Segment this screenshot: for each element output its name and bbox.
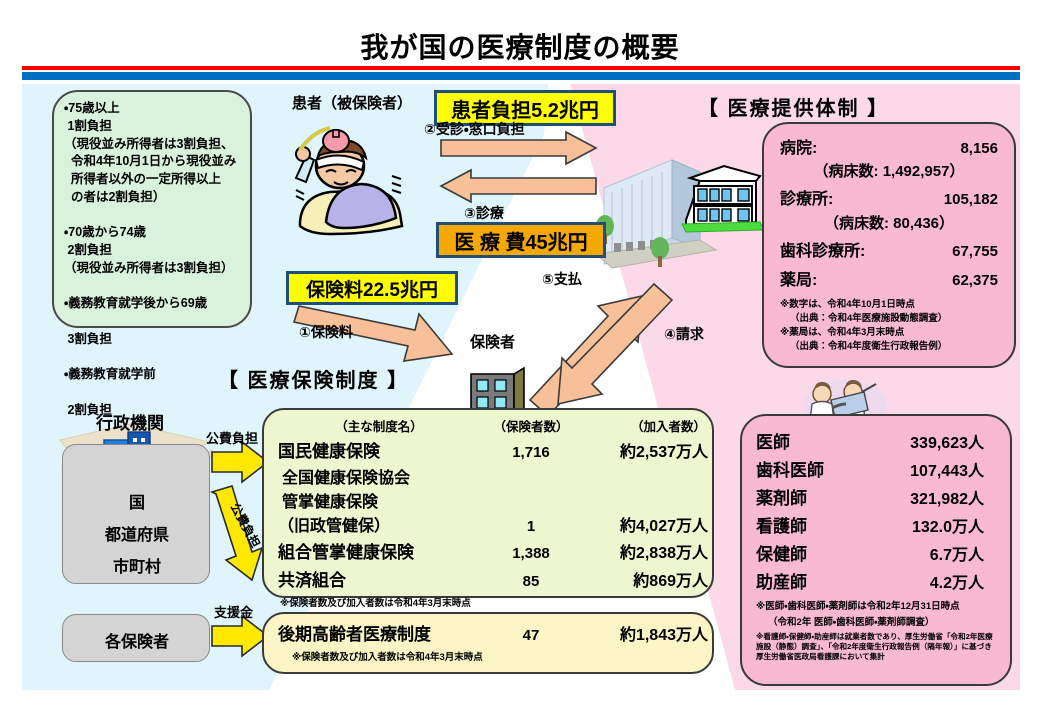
scheme-insurers: 1,388 [476,545,586,562]
scheme-members: 約869万人 [586,567,712,591]
facility-row: 歯科診療所: 67,755 [780,237,998,261]
flow-label-step5: ⑤支払 [542,269,582,289]
insurer-label: 保険者 [470,331,515,352]
personnel-name: 助産師 [756,568,852,593]
government-heading: 行政機関 [96,409,164,434]
provider-note: ※薬局は、令和4年3月末時点 [780,324,998,338]
scheme-members: 約4,027万人 [586,512,712,536]
government-entity-national: 国 [63,489,211,513]
table-row: 共済組合 85 約869万人 [264,566,712,591]
personnel-note: （令和2年 医師・歯科医師・薬剤師調査） [756,614,998,628]
table-row: （旧政管健保） 1 約4,027万人 [264,512,712,536]
clinic-beds: （病床数: 80,436） [780,212,998,233]
insurance-table-box: （主な制度名） （保険者数） （加入者数） 国民健康保険 1,716 約2,53… [262,408,714,598]
facility-value: 105,182 [944,191,998,208]
page-title: 我が国の医療制度の概要 [0,26,1040,66]
copay-rate-text: ・75歳以上 1割負担 （現役並み所得者は3割負担、 令和4年10月1日から現役… [64,100,236,420]
provider-note: （出典：令和4年度衛生行政報告例） [780,338,998,352]
payers-box: 各保険者 [62,614,210,662]
facility-name: 病院: [780,134,817,158]
personnel-value: 107,443人 [852,457,998,481]
government-entities-box: 国 都道府県 市町村 [62,444,210,584]
facility-value: 8,156 [960,140,998,157]
table-row: 組合管掌健康保険 1,388 約2,838万人 [264,538,712,563]
government-entity-municipality: 市町村 [63,553,211,577]
personnel-name: 薬剤師 [756,484,852,509]
facility-row: 薬局: 62,375 [780,266,998,290]
public-funding-label-1: 公費負担 [206,428,258,447]
scheme-name: （旧政管健保） [264,512,476,536]
personnel-value: 4.2万人 [852,569,998,593]
government-entity-prefecture: 都道府県 [63,521,211,545]
scheme-members: 約2,537万人 [586,438,712,462]
scheme-name: 共済組合 [264,566,476,591]
scheme-members: 約2,838万人 [586,539,712,563]
personnel-row: 助産師 4.2万人 [756,568,998,593]
callout-medical-cost: 医 療 費45兆円 [436,222,606,258]
scheme-name: 国民健康保険 [264,437,476,462]
personnel-row: 保健師 6.7万人 [756,540,998,565]
elderly-scheme-box: 後期高齢者医療制度 47 約1,843万人 ※保険者数及び加入者数は令和4年3月… [262,612,714,674]
scheme-insurers: 1,716 [476,444,586,461]
facility-value: 67,755 [952,243,998,260]
copay-rate-box: ・75歳以上 1割負担 （現役並み所得者は3割負担、 令和4年10月1日から現役… [52,90,252,328]
payers-label: 各保険者 [63,628,211,652]
column-header-scheme: （主な制度名） [264,416,476,435]
personnel-name: 看護師 [756,512,852,537]
patient-label: 患者（被保険者） [292,92,412,113]
facility-row: 診療所: 105,182 [780,185,998,209]
personnel-small-note: ※看護師・保健師・助産師は就業者数であり、厚生労働省「令和2年医療施設（静態）調… [756,632,998,662]
scheme-name: 組合管掌健康保険 [264,538,476,563]
personnel-row: 看護師 132.0万人 [756,512,998,537]
flow-label-step4: ④請求 [664,324,704,344]
provider-section-heading: 【 医療提供体制 】 [698,92,889,121]
support-payment-label: 支援金 [214,602,253,621]
diagram-root: 我が国の医療制度の概要 ・75歳以上 1割負担 （現役並み所得者は3割負担、 令… [0,0,1040,720]
scheme-insurers: 1 [476,518,586,535]
personnel-row: 歯科医師 107,443人 [756,456,998,481]
personnel-name: 歯科医師 [756,456,852,481]
facility-name: 薬局: [780,266,817,290]
column-header-members: （加入者数） [586,416,712,435]
insurance-table-header: （主な制度名） （保険者数） （加入者数） [264,416,712,435]
table-row: 管掌健康保険 [264,488,712,512]
personnel-name: 保健師 [756,540,852,565]
personnel-row: 医師 339,623人 [756,428,998,453]
header-rule-red [22,66,1020,70]
elderly-scheme-note: ※保険者数及び加入者数は令和4年3月末時点 [264,649,712,663]
hospital-beds: （病床数: 1,492,957） [780,160,998,181]
callout-premium: 保険料22.5兆円 [286,271,458,305]
personnel-value: 6.7万人 [852,541,998,565]
header-rule-blue [22,72,1020,80]
facility-name: 診療所: [780,185,833,209]
facility-row: 病院: 8,156 [780,134,998,158]
provider-note: ※数字は、令和4年10月1日時点 [780,296,998,310]
personnel-value: 339,623人 [852,429,998,453]
scheme-name: 全国健康保険協会 [264,464,476,488]
scheme-members: 約1,843万人 [586,621,712,645]
scheme-name: 後期高齢者医療制度 [264,620,476,645]
table-row: 全国健康保険協会 [264,464,712,488]
column-header-insurers: （保険者数） [476,416,586,435]
flow-label-step3: ③診療 [464,203,504,223]
table-row: 国民健康保険 1,716 約2,537万人 [264,437,712,462]
facility-value: 62,375 [952,272,998,289]
facility-name: 歯科診療所: [780,237,865,261]
flow-label-step2: ②受診・窓口負担 [424,119,525,139]
personnel-note: ※医師・歯科医師・薬剤師は令和2年12月31日時点 [756,598,998,612]
flow-label-step1: ①保険料 [299,322,353,342]
facility-counts-box: 病院: 8,156 （病床数: 1,492,957） 診療所: 105,182 … [762,122,1016,368]
personnel-row: 薬剤師 321,982人 [756,484,998,509]
personnel-counts-box: 医師 339,623人 歯科医師 107,443人 薬剤師 321,982人 看… [740,414,1012,686]
table-row: 後期高齢者医療制度 47 約1,843万人 [264,620,712,645]
personnel-value: 132.0万人 [852,513,998,537]
provider-note: （出典：令和4年医療施設動態調査） [780,310,998,324]
personnel-name: 医師 [756,428,852,453]
scheme-insurers: 47 [476,627,586,644]
scheme-name: 管掌健康保険 [264,488,476,512]
scheme-insurers: 85 [476,573,586,590]
insurance-table-note: ※保険者数及び加入者数は令和4年3月末時点 [264,595,712,609]
insurance-section-heading: 【 医療保険制度 】 [218,364,409,393]
personnel-value: 321,982人 [852,485,998,509]
